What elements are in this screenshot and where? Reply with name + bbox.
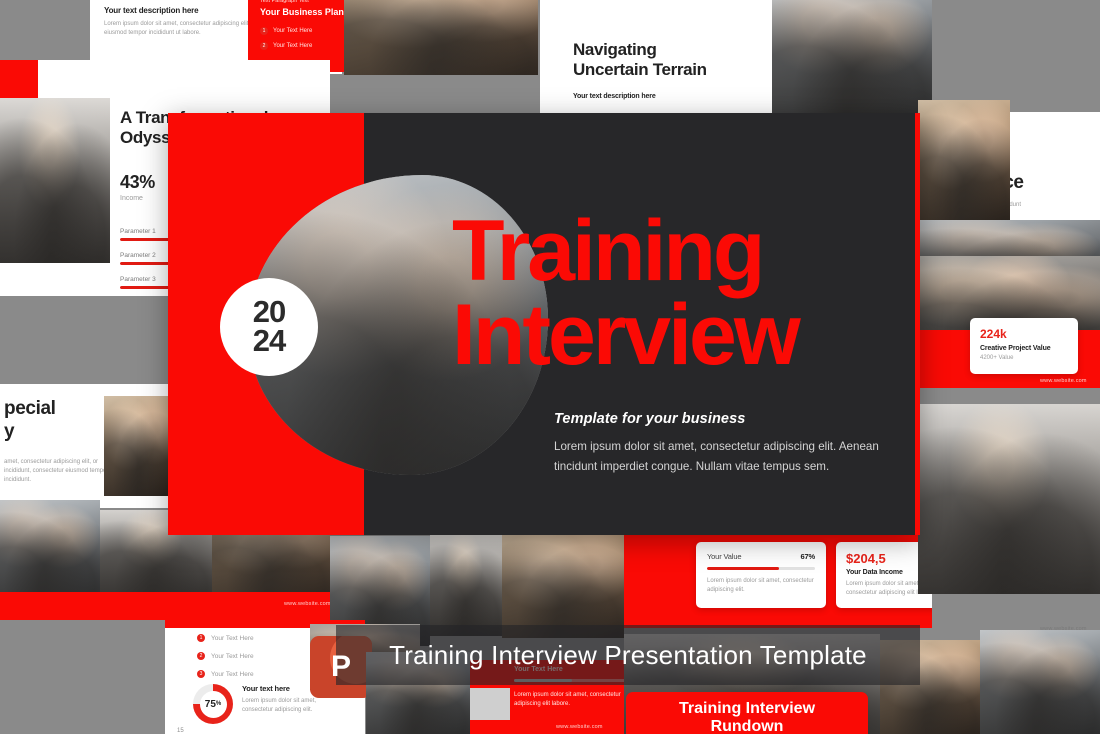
creative-value-number: 224k xyxy=(980,327,1068,341)
number-bullet-icon: 1 xyxy=(260,27,268,35)
number-bullet-icon: 1 xyxy=(197,634,205,642)
special-title-1: pecial xyxy=(4,398,116,421)
creative-value-title: Creative Project Value xyxy=(980,345,1068,352)
red-card-heading: Your Business Plan xyxy=(260,7,344,17)
checklist-item-1: Your Text Here xyxy=(211,635,254,642)
donut-unit: % xyxy=(216,701,221,707)
your-value-body: Lorem ipsum dolor sit amet, consectetur … xyxy=(707,577,815,596)
photo-desk-left xyxy=(0,98,110,263)
number-bullet-icon: 3 xyxy=(197,670,205,678)
photo-two-people-desk xyxy=(918,404,1100,594)
slide-rundown[interactable]: Training Interview Rundown xyxy=(626,692,868,734)
slide-special-story[interactable]: pecial y amet, consectetur adipiscing el… xyxy=(0,384,194,508)
navigating-title-2: Uncertain Terrain xyxy=(573,60,707,80)
donut-value: 75 xyxy=(205,699,216,710)
your-text-red-body: Lorem ipsum dolor sit amet, consectetur … xyxy=(514,691,626,710)
hero-title: Training Interview xyxy=(452,209,920,378)
slide-value-cards[interactable]: Your Value 67% Lorem ipsum dolor sit ame… xyxy=(624,528,932,628)
screenshot-canvas: Your text description here Lorem ipsum d… xyxy=(0,0,1100,734)
special-title-2: y xyxy=(4,421,116,444)
photo-smiling-man xyxy=(502,528,624,638)
rundown-title-1: Training Interview xyxy=(626,700,868,718)
hero-right-stripe xyxy=(915,113,920,535)
creative-value-caption: 4200+ Value xyxy=(980,355,1068,361)
red-card-item-1: Your Text Here xyxy=(273,28,312,34)
photo-team-top-right xyxy=(772,0,932,120)
navigating-title-1: Navigating xyxy=(573,40,707,60)
hero-year-bottom: 24 xyxy=(253,327,286,356)
checklist-item-3: Your Text Here xyxy=(211,671,254,678)
progress-donut: 75% xyxy=(193,684,233,724)
photo-woman-cafe xyxy=(104,396,174,496)
watermark-site-2: www.website.com xyxy=(284,601,331,607)
checklist-item-2: Your Text Here xyxy=(211,653,254,660)
donut-body: Lorem ipsum dolor sit amet, consectetur … xyxy=(242,697,346,716)
navigating-caption: Your text description here xyxy=(573,93,707,100)
photo-far-bottom-right xyxy=(980,630,1100,734)
watermark-site-1: www.website.com xyxy=(1040,378,1087,384)
hero-year-badge: 20 24 xyxy=(220,278,318,376)
your-value-label: Your Value xyxy=(707,552,741,561)
page-number: 15 xyxy=(177,728,184,734)
photo-person-right-upper xyxy=(918,100,1010,220)
special-body: amet, consectetur adipiscing elit, or in… xyxy=(4,458,116,486)
red-card-item-2: Your Text Here xyxy=(273,43,312,49)
hero-body: Lorem ipsum dolor sit amet, consectetur … xyxy=(554,437,884,478)
hero-subtitle: Template for your business xyxy=(554,411,745,427)
photo-roundtable-left xyxy=(0,500,100,600)
number-bullet-icon: 2 xyxy=(260,42,268,50)
photo-meeting-room-top xyxy=(344,0,538,75)
photo-group-standing xyxy=(430,532,502,636)
card-your-value[interactable]: Your Value 67% Lorem ipsum dolor sit ame… xyxy=(696,542,826,608)
watermark-site-4: www.website.com xyxy=(556,724,603,730)
slide-experience-fragment[interactable]: nce r incididunt xyxy=(1002,112,1100,232)
bottom-banner: Training Interview Presentation Template xyxy=(336,625,920,685)
rundown-title-2: Rundown xyxy=(626,718,868,734)
hero-title-line-1: Training xyxy=(452,203,762,299)
red-card-eyebrow: Text Paragraph Text xyxy=(260,0,344,4)
number-bullet-icon: 2 xyxy=(197,652,205,660)
slide-navigating[interactable]: Navigating Uncertain Terrain Your text d… xyxy=(540,0,780,116)
red-strip-bottom-left xyxy=(0,592,330,620)
card-creative-project-value[interactable]: 224k Creative Project Value 4200+ Value xyxy=(970,318,1078,374)
powerpoint-icon-letter: P xyxy=(331,650,351,684)
hero-title-line-2: Interview xyxy=(452,293,920,377)
your-value-percent: 67% xyxy=(800,552,815,561)
bottom-banner-label: Training Interview Presentation Template xyxy=(389,640,867,671)
hero-slide[interactable]: 20 24 Training Interview Template for yo… xyxy=(168,113,920,535)
